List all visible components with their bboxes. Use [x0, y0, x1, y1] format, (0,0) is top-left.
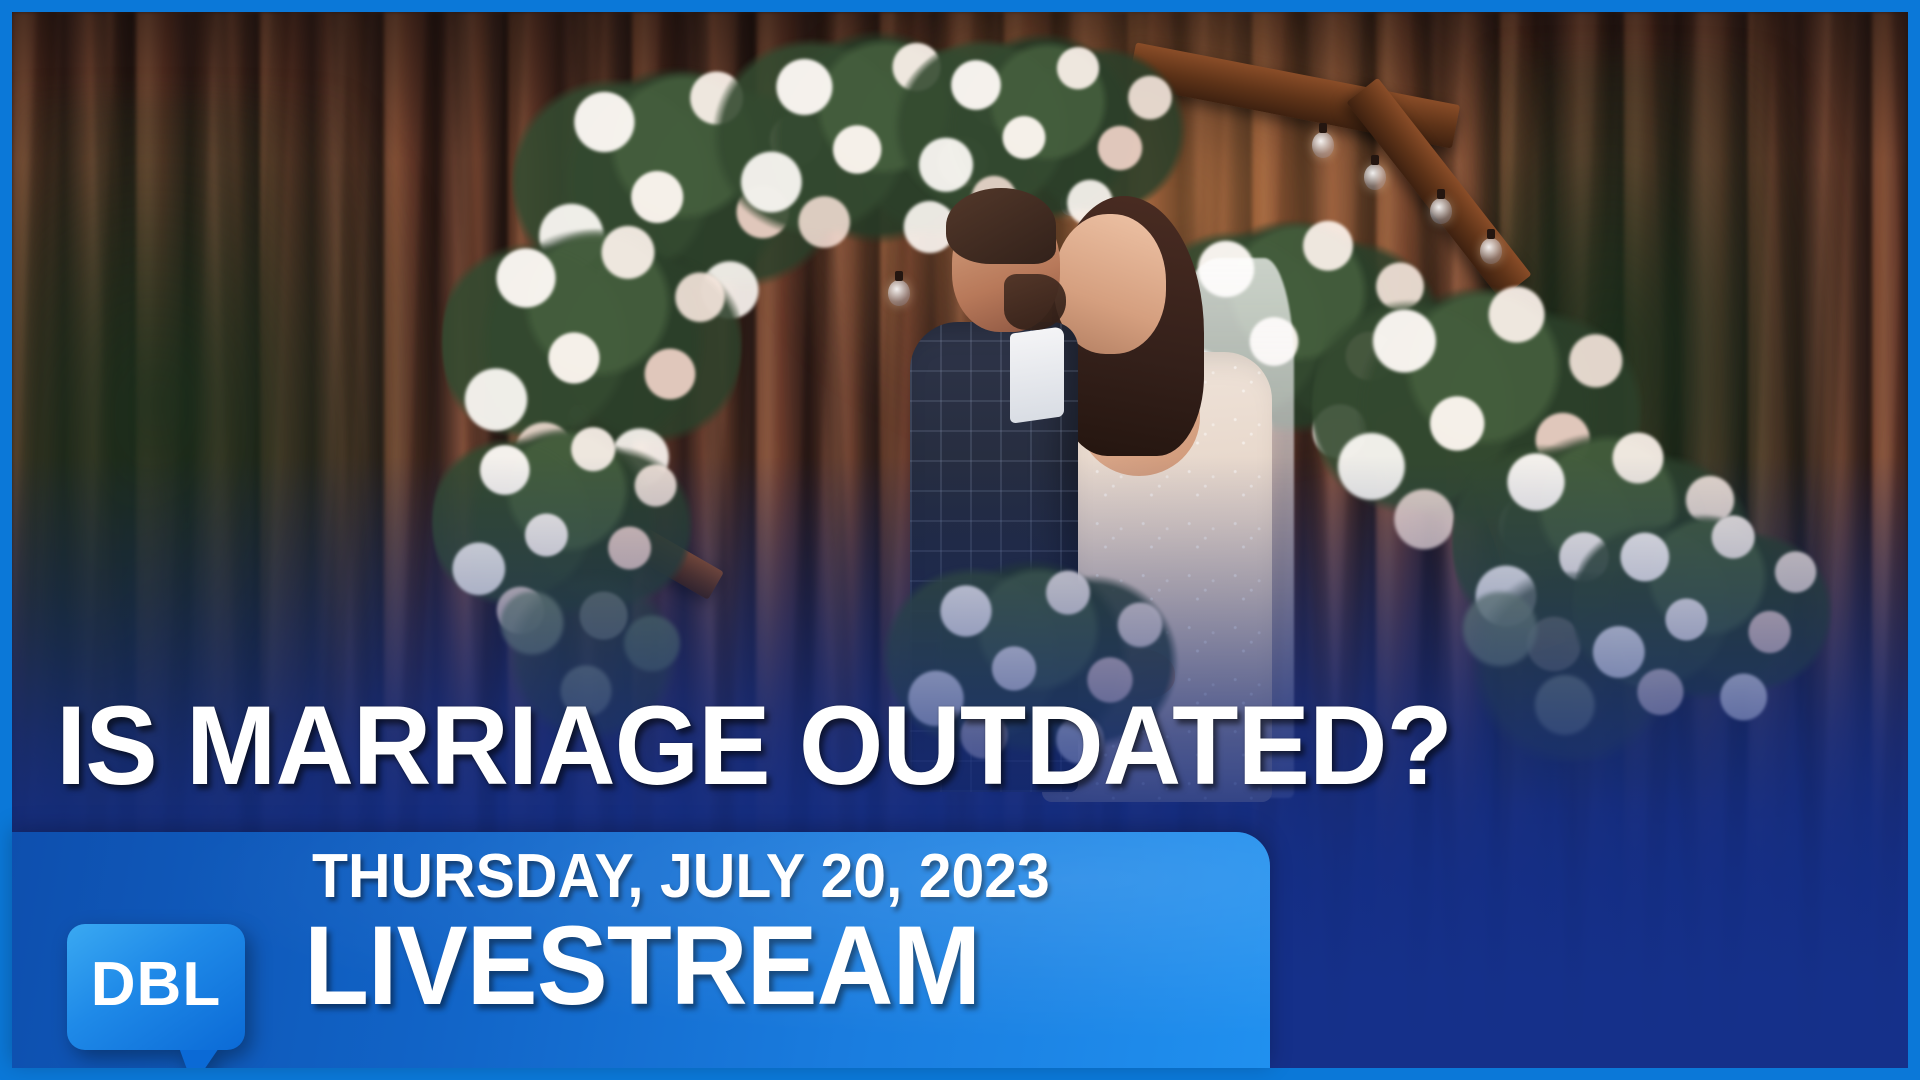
dbl-logo[interactable]: DBL — [67, 924, 245, 1050]
groom-beard — [1004, 274, 1066, 330]
dbl-logo-text: DBL — [67, 924, 245, 1050]
livestream-thumbnail: IS MARRIAGE OUTDATED? DBL THURSDAY, JULY… — [0, 0, 1920, 1080]
page-title: IS MARRIAGE OUTDATED? — [56, 690, 1825, 802]
program-label: LIVESTREAM — [304, 910, 980, 1022]
string-light-bulb-icon — [1364, 164, 1386, 190]
broadcast-date: THURSDAY, JULY 20, 2023 — [312, 846, 1050, 908]
string-light-bulb-icon — [1312, 132, 1334, 158]
groom-shirt-collar — [1010, 326, 1064, 424]
string-light-bulb-icon — [1430, 198, 1452, 224]
groom-hair — [946, 188, 1056, 264]
lower-third-panel: DBL THURSDAY, JULY 20, 2023 LIVESTREAM — [12, 832, 1270, 1068]
